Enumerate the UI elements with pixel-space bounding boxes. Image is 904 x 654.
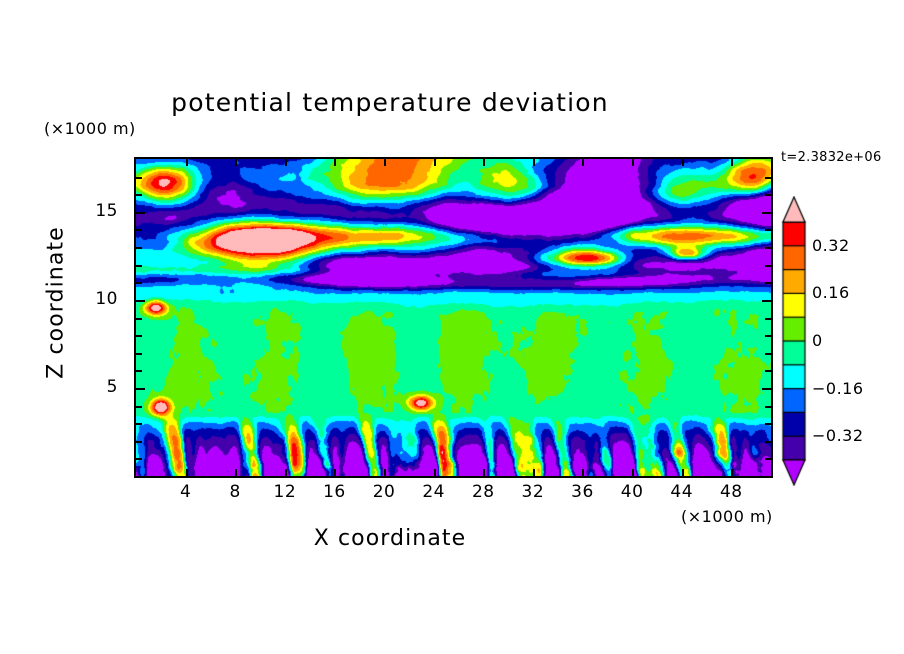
x-tick-label: 48: [706, 482, 756, 502]
y-tick: [136, 388, 145, 390]
y-tick: [136, 212, 145, 214]
x-tick-label: 40: [607, 482, 657, 502]
y-tick-right: [765, 441, 771, 443]
x-tick: [731, 469, 733, 476]
y-tick-right: [765, 458, 771, 460]
colorbar: [781, 196, 807, 486]
x-tick-top: [682, 159, 684, 166]
y-tick: [136, 282, 142, 284]
y-tick: [136, 229, 142, 231]
y-tick-right: [762, 388, 771, 390]
colorbar-tick-label: 0.16: [812, 283, 850, 302]
y-tick-right: [765, 194, 771, 196]
x-tick-top: [434, 159, 436, 166]
x-tick: [186, 469, 188, 476]
y-tick: [136, 423, 142, 425]
x-tick: [483, 469, 485, 476]
colorbar-tick-label: 0: [812, 331, 823, 350]
x-tick-top: [186, 159, 188, 166]
x-tick: [235, 469, 237, 476]
y-tick: [136, 318, 142, 320]
y-tick-right: [765, 229, 771, 231]
y-tick: [136, 194, 142, 196]
contour-plot-area: [134, 157, 773, 478]
y-axis-title: Z coordinate: [44, 203, 69, 403]
colorbar-gradient: [781, 196, 807, 486]
x-tick-label: 32: [508, 482, 558, 502]
x-tick-label: 8: [210, 482, 260, 502]
y-tick-right: [765, 423, 771, 425]
x-tick: [682, 469, 684, 476]
x-tick-label: 36: [557, 482, 607, 502]
y-tick-right: [765, 406, 771, 408]
y-tick-right: [765, 265, 771, 267]
x-tick-label: 12: [260, 482, 310, 502]
x-tick-label: 44: [657, 482, 707, 502]
x-tick-top: [483, 159, 485, 166]
colorbar-tick-label: 0.32: [812, 236, 850, 255]
x-tick-label: 4: [161, 482, 211, 502]
page-title: potential temperature deviation: [0, 88, 780, 117]
x-tick: [533, 469, 535, 476]
timestamp-annotation: t=2.3832e+06: [781, 150, 882, 165]
y-tick: [136, 300, 145, 302]
y-tick-right: [765, 370, 771, 372]
y-tick-right: [765, 247, 771, 249]
y-axis-unit-label: (×1000 m): [44, 119, 136, 138]
x-axis-title: X coordinate: [0, 526, 780, 551]
colorbar-tick-label: −0.16: [812, 379, 864, 398]
y-tick: [136, 441, 142, 443]
x-tick-label: 20: [359, 482, 409, 502]
x-tick-top: [632, 159, 634, 166]
y-tick-label: 15: [74, 201, 118, 221]
y-tick-label: 5: [74, 377, 118, 397]
x-tick-label: 28: [458, 482, 508, 502]
x-tick-label: 16: [309, 482, 359, 502]
y-tick-label: 10: [74, 289, 118, 309]
x-tick-top: [582, 159, 584, 166]
y-tick-right: [765, 353, 771, 355]
y-tick: [136, 458, 142, 460]
x-tick: [285, 469, 287, 476]
y-tick: [136, 335, 142, 337]
y-tick-right: [765, 177, 771, 179]
figure-canvas: potential temperature deviation (×1000 m…: [0, 0, 904, 654]
y-tick: [136, 177, 142, 179]
x-tick-top: [731, 159, 733, 166]
y-tick-right: [762, 212, 771, 214]
y-tick: [136, 265, 142, 267]
y-tick-right: [765, 318, 771, 320]
contour-field: [136, 159, 771, 476]
y-tick-right: [762, 300, 771, 302]
x-axis-unit-label: (×1000 m): [681, 507, 773, 526]
x-tick-top: [235, 159, 237, 166]
y-tick-right: [765, 335, 771, 337]
y-tick: [136, 370, 142, 372]
x-tick-top: [334, 159, 336, 166]
x-tick-top: [533, 159, 535, 166]
x-tick: [632, 469, 634, 476]
x-tick-top: [285, 159, 287, 166]
x-tick-top: [384, 159, 386, 166]
y-tick: [136, 247, 142, 249]
y-tick: [136, 353, 142, 355]
y-tick-right: [765, 282, 771, 284]
x-tick: [582, 469, 584, 476]
x-tick: [384, 469, 386, 476]
colorbar-tick-label: −0.32: [812, 426, 864, 445]
x-tick: [434, 469, 436, 476]
x-tick: [334, 469, 336, 476]
x-tick-label: 24: [409, 482, 459, 502]
y-tick: [136, 406, 142, 408]
